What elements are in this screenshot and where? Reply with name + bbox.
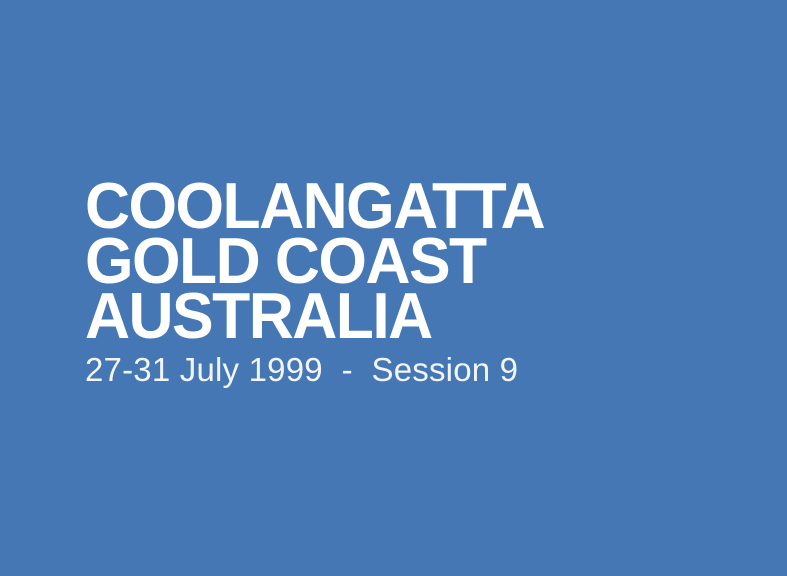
- title-slide: COOLANGATTA GOLD COAST AUSTRALIA 27-31 J…: [0, 0, 787, 576]
- title-block: COOLANGATTA GOLD COAST AUSTRALIA: [85, 178, 745, 343]
- title-line-3: AUSTRALIA: [85, 288, 719, 343]
- subtitle-date-session: 27-31 July 1999 - Session 9: [85, 352, 518, 388]
